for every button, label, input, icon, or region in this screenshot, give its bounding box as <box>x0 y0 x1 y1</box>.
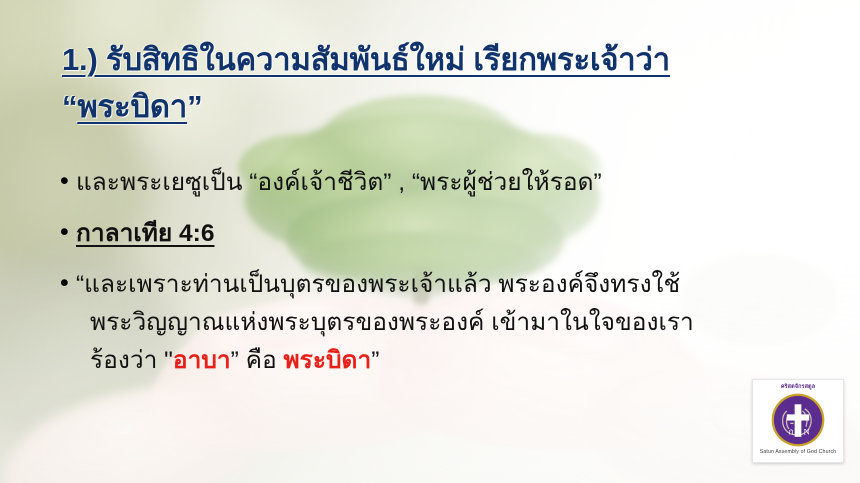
slide-title: 1.) รับสิทธิในความสัมพันธ์ใหม่ เรียกพระเ… <box>62 36 832 130</box>
list-item: • และพระเยซูเป็น “องค์เจ้าชีวิต” , “พระผ… <box>60 164 850 201</box>
title-keyword: พระบิดา <box>77 89 187 124</box>
highlight-abba: อาบา <box>173 347 231 374</box>
slide-content: 1.) รับสิทธิในความสัมพันธ์ใหม่ เรียกพระเ… <box>0 0 860 483</box>
title-close-quote: ” <box>187 89 202 124</box>
bullet-dot-icon: • <box>60 215 76 249</box>
presentation-slide: 1.) รับสิทธิในความสัมพันธ์ใหม่ เรียกพระเ… <box>0 0 860 483</box>
logo-caption: Satun Assembly of God Church <box>760 449 837 455</box>
bullet-list: • และพระเยซูเป็น “องค์เจ้าชีวิต” , “พระผ… <box>60 164 850 394</box>
verse-line-3-post: ” <box>371 347 379 374</box>
scripture-verse: “และเพราะท่านเป็นบุตรของพระเจ้าแล้ว พระอ… <box>76 266 850 380</box>
list-item: • กาลาเทีย 4:6 <box>60 215 850 252</box>
verse-line-3: ร้องว่า "อาบา” คือ พระบิดา” <box>76 342 850 380</box>
list-item: • “และเพราะท่านเป็นบุตรของพระเจ้าแล้ว พร… <box>60 266 850 380</box>
title-open-quote: “ <box>62 89 77 124</box>
church-logo: คริสตจักรสตูล <box>752 379 844 463</box>
verse-line-1: “และเพราะท่านเป็นบุตรของพระเจ้าแล้ว พระอ… <box>76 266 850 304</box>
bullet-dot-icon: • <box>60 164 76 198</box>
title-line-1: 1.) รับสิทธิในความสัมพันธ์ใหม่ เรียกพระเ… <box>62 42 670 77</box>
bullet-dot-icon: • <box>60 266 76 300</box>
logo-emblem: ก N <box>770 392 826 448</box>
logo-letter-right: N <box>804 428 810 437</box>
title-line-2: “พระบิดา” <box>62 83 832 130</box>
scripture-reference: กาลาเทีย 4:6 <box>76 215 850 252</box>
bullet-text-jesus-titles: และพระเยซูเป็น “องค์เจ้าชีวิต” , “พระผู้… <box>76 164 850 201</box>
logo-thai-name: คริสตจักรสตูล <box>781 383 815 392</box>
verse-line-3-mid: ” คือ <box>231 347 284 374</box>
verse-line-2: พระวิญญาณแห่งพระบุตรของพระองค์ เข้ามาในใ… <box>76 304 850 342</box>
logo-emblem-svg: ก N <box>770 392 826 448</box>
verse-line-3-pre: ร้องว่า " <box>90 347 173 374</box>
highlight-father: พระบิดา <box>284 347 372 374</box>
logo-letter-left: ก <box>788 428 793 437</box>
